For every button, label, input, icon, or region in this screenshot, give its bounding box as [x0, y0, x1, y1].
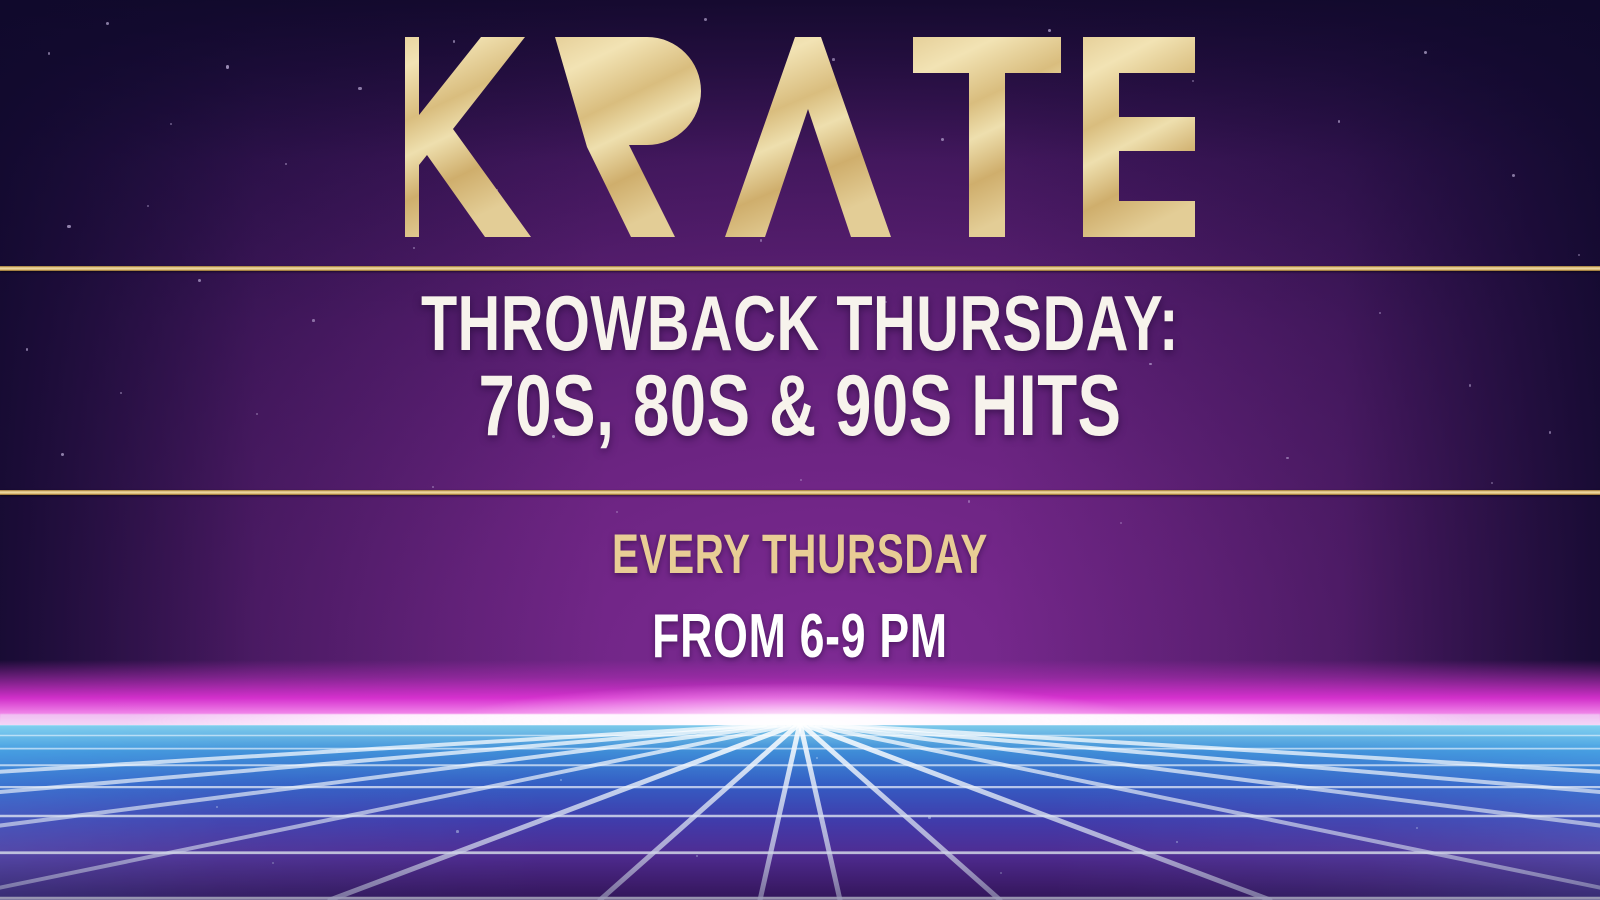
headline-line-2: 70S, 80S & 90S HITS: [192, 365, 1408, 448]
floor-star-dot: [1056, 774, 1058, 776]
floor-star-dot: [336, 750, 338, 752]
brand-logo-krate: [405, 37, 1195, 237]
star-dot: [1469, 384, 1471, 386]
star-dot: [432, 486, 434, 488]
grid-line-vertical: [330, 725, 794, 900]
star-dot: [1491, 482, 1493, 484]
logo-letter-t: [913, 37, 1061, 237]
star-dot: [106, 22, 109, 25]
logo-letter-a: [725, 37, 891, 237]
star-dot: [760, 239, 762, 241]
star-dot: [1549, 431, 1552, 434]
star-dot: [1578, 254, 1580, 256]
headline: THROWBACK THURSDAY: 70S, 80S & 90S HITS: [192, 286, 1408, 447]
logo-letter-k: [405, 37, 531, 237]
star-dot: [800, 479, 802, 481]
logo-letter-r: [555, 37, 701, 237]
star-dot: [1286, 457, 1289, 460]
floor-star-dot: [816, 757, 818, 759]
star-dot: [120, 392, 122, 394]
headline-line-1: THROWBACK THURSDAY:: [192, 286, 1408, 361]
neon-grid-floor: [0, 725, 1600, 900]
star-dot: [26, 348, 29, 351]
star-dot: [61, 453, 64, 456]
star-dot: [198, 279, 201, 282]
floor-star-dot: [216, 806, 218, 808]
floor-star-dot: [272, 862, 274, 864]
star-dot: [704, 18, 707, 21]
brand-logo: [0, 34, 1600, 239]
floor-star-dot: [1416, 827, 1418, 829]
schedule-recurrence: EVERY THURSDAY: [224, 521, 1376, 586]
gold-divider-bottom: [0, 490, 1600, 495]
perspective-grid-lines: [0, 725, 1600, 900]
logo-letter-e: [1083, 37, 1195, 237]
star-dot: [968, 500, 970, 502]
floor-star-dot: [456, 830, 459, 833]
gold-divider-top: [0, 266, 1600, 271]
star-dot: [616, 511, 618, 513]
grid-line-vertical: [806, 725, 1270, 900]
floor-star-dot: [928, 816, 931, 819]
event-poster: THROWBACK THURSDAY: 70S, 80S & 90S HITS …: [0, 0, 1600, 900]
star-dot: [413, 247, 415, 249]
star-dot: [1048, 29, 1051, 32]
